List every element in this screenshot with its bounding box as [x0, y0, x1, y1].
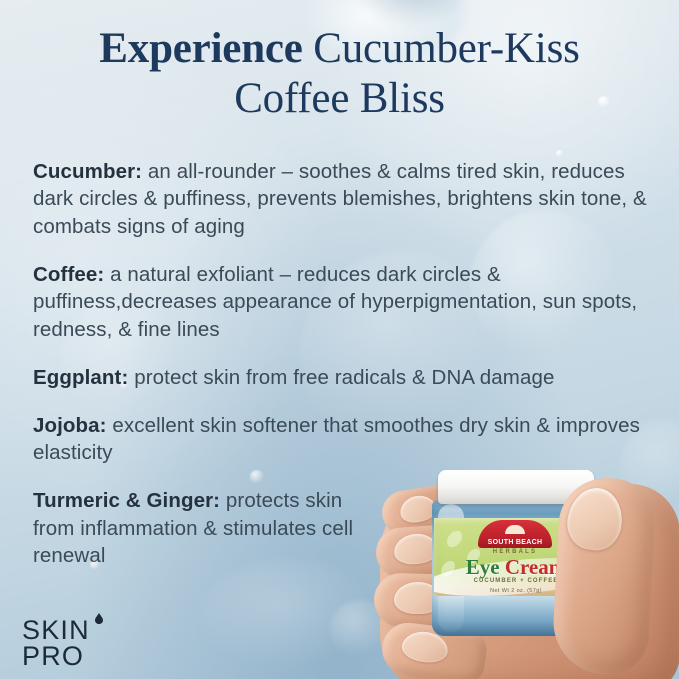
logo-text-pro: PRO — [22, 641, 84, 671]
background-bubble — [352, 0, 472, 26]
logo-line-1: SKIN — [22, 617, 90, 643]
product-photo: SOUTH BEACH HERBALS Eye Cream CUCUMBER +… — [372, 470, 679, 679]
ingredient-description: excellent skin softener that smoothes dr… — [33, 414, 640, 465]
sun-icon — [505, 525, 525, 534]
product-benefits-poster: Experience Cucumber-Kiss Coffee Bliss Cu… — [0, 0, 679, 679]
ingredient-item-cucumber: Cucumber: an all-rounder – soothes & cal… — [33, 158, 653, 241]
headline-emphasis: Experience — [99, 25, 302, 72]
ingredient-name: Eggplant: — [33, 366, 128, 389]
ingredient-name: Cucumber: — [33, 160, 142, 183]
brand-name: SOUTH BEACH — [488, 539, 543, 546]
leaf-pattern — [445, 528, 464, 550]
page-title: Experience Cucumber-Kiss Coffee Bliss — [0, 24, 679, 124]
ingredient-name: Jojoba: — [33, 414, 107, 437]
ingredient-item-jojoba: Jojoba: excellent skin softener that smo… — [33, 412, 653, 467]
headline-rest: Cucumber-Kiss — [303, 25, 580, 72]
ingredient-description: a natural exfoliant – reduces dark circl… — [33, 263, 637, 341]
ingredient-item-eggplant: Eggplant: protect skin from free radical… — [33, 364, 653, 392]
ingredient-description: protect skin from free radicals & DNA da… — [128, 366, 554, 389]
ingredient-name: Coffee: — [33, 263, 104, 286]
water-drop-icon — [95, 613, 103, 624]
brand-badge: SOUTH BEACH — [478, 520, 552, 548]
ingredient-name: Turmeric & Ginger: — [33, 489, 220, 512]
product-name-eye: Eye — [466, 555, 500, 579]
ingredient-item-coffee: Coffee: a natural exfoliant – reduces da… — [33, 261, 653, 344]
ingredient-item-turmeric-ginger: Turmeric & Ginger: protects skin from in… — [33, 487, 383, 570]
headline-line-2: Coffee Bliss — [234, 75, 445, 122]
logo-line-2: PRO — [22, 643, 90, 669]
brand-logo: SKIN PRO — [22, 617, 90, 669]
